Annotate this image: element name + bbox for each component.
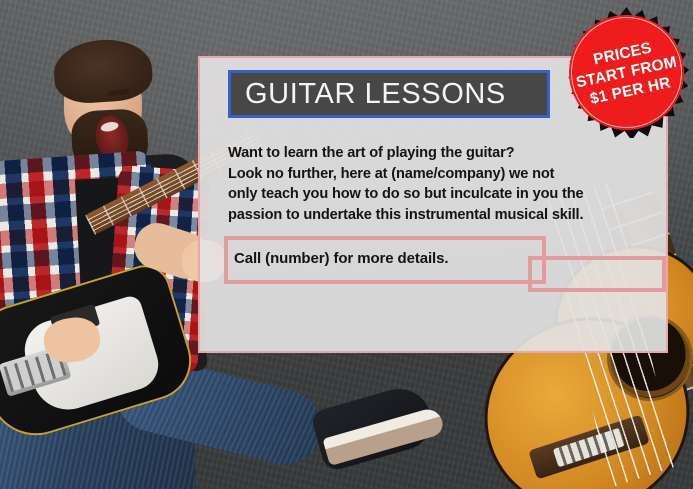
call-to-action-text: Call (number) for more details. [234, 250, 534, 267]
price-badge: PRICES START FROM $1 PER HR [561, 7, 692, 138]
page-title: GUITAR LESSONS [245, 78, 506, 111]
badge-text: PRICES START FROM $1 PER HR [549, 0, 693, 150]
headline-banner: GUITAR LESSONS [228, 70, 550, 118]
body-line-1: Want to learn the art of playing the gui… [228, 143, 668, 164]
body-line-3: only teach you how to do so but inculcat… [228, 184, 668, 205]
body-line-4: passion to undertake this instrumental m… [228, 205, 668, 226]
guitar-lessons-poster: GUITAR LESSONS Want to learn the art of … [0, 0, 693, 489]
body-line-2: Look no further, here at (name/company) … [228, 164, 668, 185]
body-copy: Want to learn the art of playing the gui… [228, 143, 668, 225]
decor-rectangle-secondary [528, 256, 666, 292]
